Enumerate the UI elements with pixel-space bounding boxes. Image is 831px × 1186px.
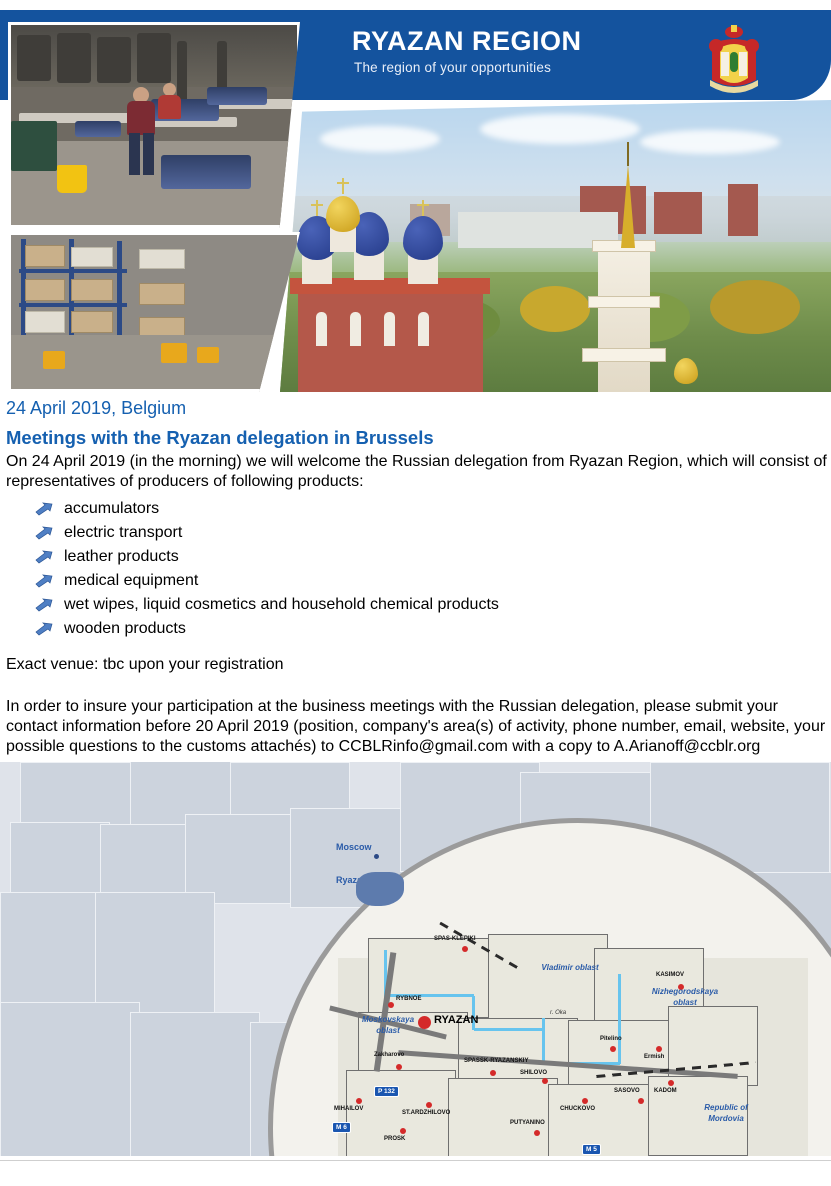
product-label: wet wipes, liquid cosmetics and househol… [64,596,499,613]
blue-arrow-bullet-icon [34,621,54,636]
city-label: KADOM [654,1088,677,1094]
city-label: CHUCKOVO [560,1106,595,1112]
city-label: RYBNOE [396,996,421,1002]
list-item: accumulators [30,497,630,521]
page-title: RYAZAN REGION [352,26,582,57]
city-label: MIHAILOV [334,1106,363,1112]
oblast-label-vladimir: Vladimir oblast [520,962,620,973]
city-label: SPAS-KLEPIKI [434,936,476,942]
city-label: SPASSK-RYAZANSKIY [464,1058,528,1064]
footer-divider [0,1160,831,1161]
city-label: SHILOVO [520,1070,547,1076]
hero-section: RYAZAN REGION The region of your opportu… [0,0,831,392]
product-label: accumulators [64,500,159,517]
infographic-section: Moscow Ryazan SPAS-KLEPIKI KASIMOV RY [0,762,831,1156]
road-shield: M 6 [332,1122,351,1133]
city-label: SASOVO [614,1088,640,1094]
event-date-location: 24 April 2019, Belgium [6,398,186,419]
map-dot-moscow [374,854,379,859]
blue-arrow-bullet-icon [34,525,54,540]
product-list: accumulators electric transport leather … [30,497,630,641]
registration-instructions: In order to insure your participation at… [6,697,828,757]
venue-note: Exact venue: tbc upon your registration [6,655,706,675]
product-label: leather products [64,548,179,565]
textile-factory-photo [8,22,300,228]
blue-arrow-bullet-icon [34,549,54,564]
list-item: electric transport [30,521,630,545]
city-label: Ermish [644,1054,664,1060]
city-label: Zakharovo [374,1052,404,1058]
oblast-label-moskovskaya: Moskovskaya oblast [348,1014,428,1036]
map-label-moscow: Moscow [336,842,372,853]
product-label: electric transport [64,524,182,541]
city-label: Pitelino [600,1036,622,1042]
city-label: PROSK [384,1136,405,1142]
road-shield: M 5 [582,1144,601,1155]
ryazan-kremlin-photo [280,100,831,392]
article-headline: Meetings with the Ryazan delegation in B… [6,427,434,449]
blue-arrow-bullet-icon [34,501,54,516]
city-label: PUTYANINO [510,1120,545,1126]
warehouse-logistics-photo [8,232,300,392]
product-label: medical equipment [64,572,198,589]
road-shield: P 132 [374,1086,399,1097]
coat-of-arms-icon [700,22,768,98]
ryazan-region-highlight [356,872,404,906]
list-item: wooden products [30,617,630,641]
blue-arrow-bullet-icon [34,597,54,612]
river-label: r. Oka [550,1010,566,1016]
product-label: wooden products [64,620,186,637]
page-subtitle: The region of your opportunities [354,60,551,75]
blue-arrow-bullet-icon [34,573,54,588]
map-label-capital: RYAZAN [434,1014,478,1026]
oblast-label-mordovia: Republic of Mordovia [676,1102,776,1124]
list-item: leather products [30,545,630,569]
oblast-label-nizhegorodskaya: Nizhegorodskaya oblast [630,986,740,1008]
city-label: KASIMOV [656,972,684,978]
city-label: ST.ARDZHILOVO [402,1110,450,1116]
list-item: wet wipes, liquid cosmetics and househol… [30,593,630,617]
article-intro: On 24 April 2019 (in the morning) we wil… [6,452,828,492]
list-item: medical equipment [30,569,630,593]
